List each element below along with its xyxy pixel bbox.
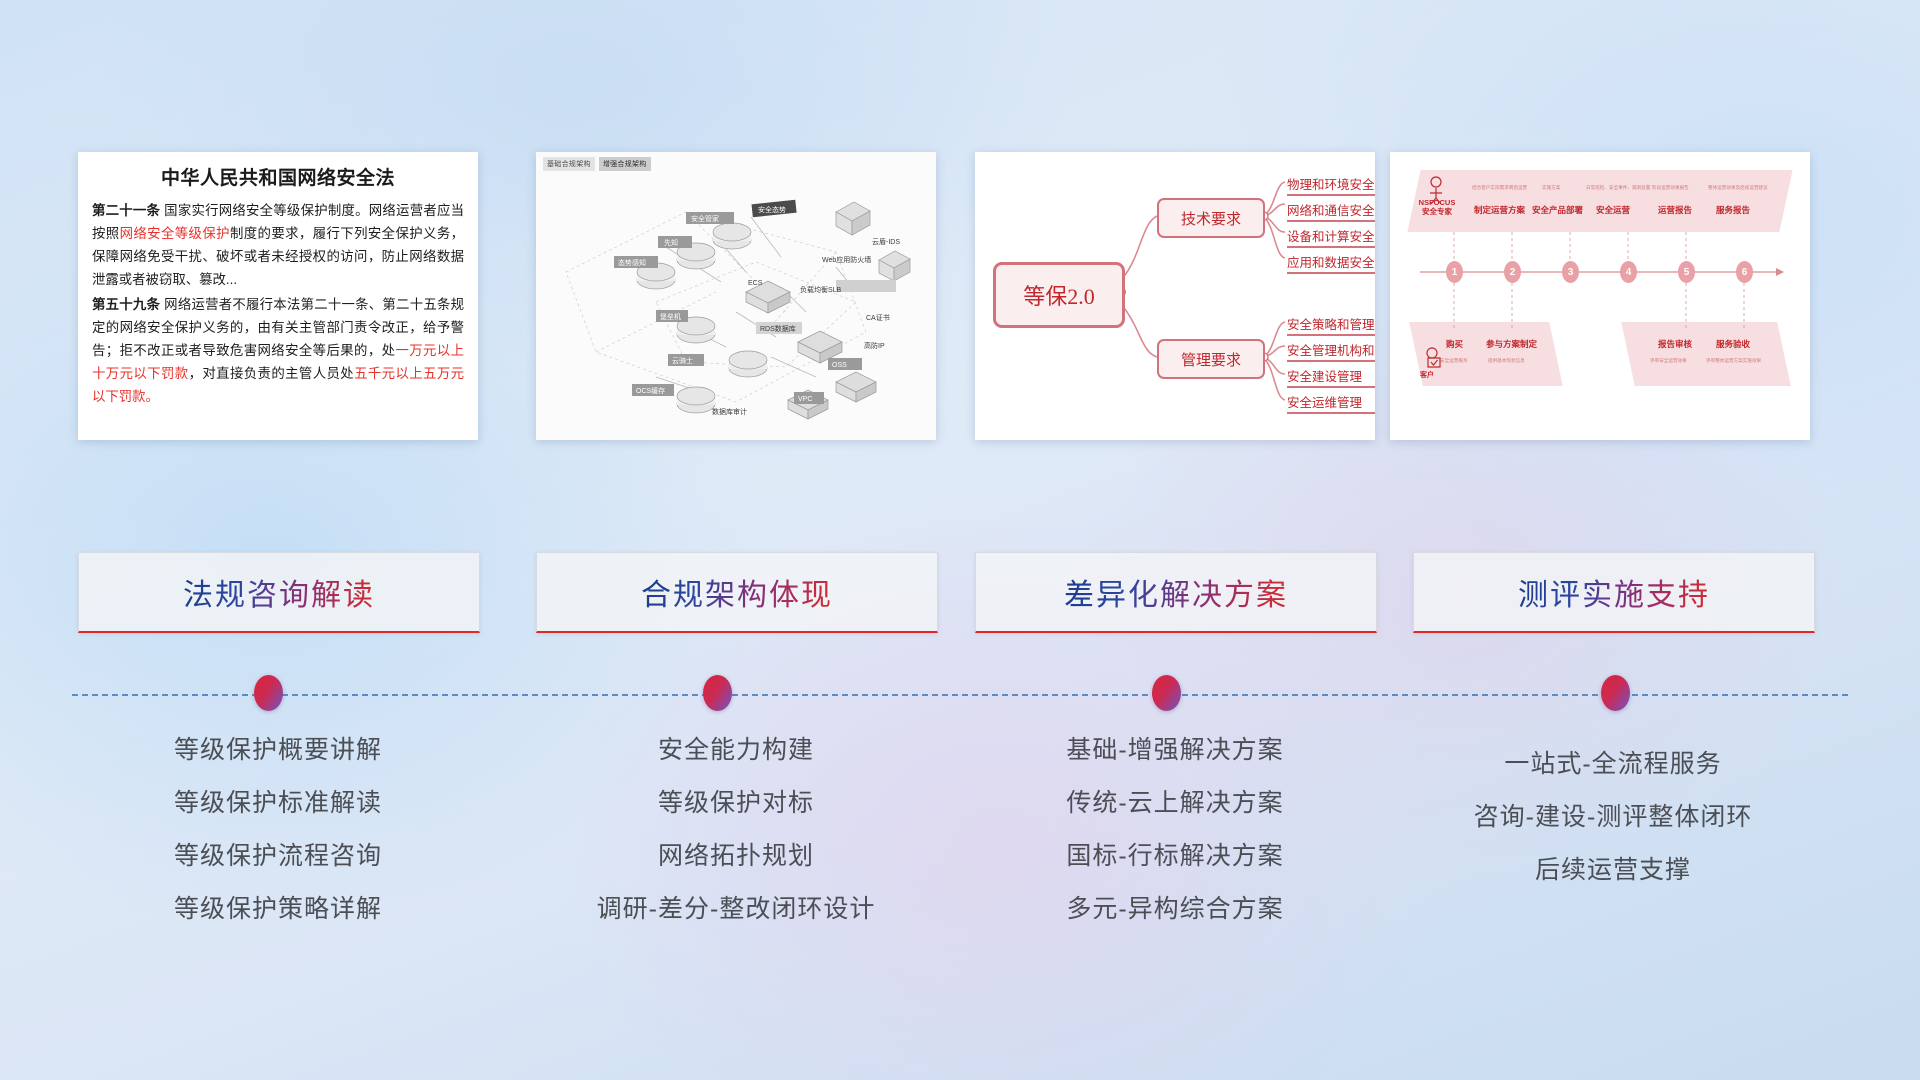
- bullet-column-2: 安全能力构建 等级保护对标 网络拓扑规划 调研-差分-整改闭环设计: [536, 738, 936, 950]
- list-item: 咨询-建设-测评整体闭环: [1413, 805, 1813, 830]
- law-title: 中华人民共和国网络安全法: [92, 163, 464, 190]
- list-item: 等级保护标准解读: [78, 791, 478, 816]
- bottom-step-sub-2: 提供基本现状信息: [1488, 358, 1525, 364]
- node-label-security-posture: 安全态势: [758, 205, 786, 214]
- bottom-step-title-1: 购买: [1446, 338, 1463, 350]
- card-mindmap: 等保2.0 技术要求 管理要求 物理和环境安全 网络和通信安全 设备和计算安全 …: [975, 152, 1375, 440]
- bottom-step-title-2: 参与方案制定: [1486, 338, 1537, 350]
- top-step-sub-5: 整体运营效果及后续运营建议: [1708, 185, 1768, 191]
- top-step-title-1: 制定运营方案: [1474, 204, 1525, 216]
- timeline-brand: NSFOCUS 安全专家: [1410, 198, 1464, 217]
- timeline-number-6: 6: [1736, 261, 1753, 283]
- timeline-marker-1[interactable]: [254, 675, 283, 711]
- law-article-59: 第五十九条 网络运营者不履行本法第二十一条、第二十五条规定的网络安全保护义务的，…: [92, 293, 464, 408]
- heading-title-2: 合规架构体现: [641, 570, 833, 614]
- mindmap-leaf-policy: 安全策略和管理制度: [1287, 314, 1375, 336]
- top-step-sub-2: 实施方案: [1542, 185, 1560, 191]
- article-21-label: 第二十一条: [92, 203, 160, 218]
- bottom-step-title-3: 报告审核: [1658, 338, 1692, 350]
- node-label-xianzhi: 先知: [664, 238, 678, 247]
- law-content: 中华人民共和国网络安全法 第二十一条 国家实行网络安全等级保护制度。网络运营者应…: [78, 152, 478, 440]
- node-label-housekeeper: 安全管家: [691, 214, 719, 223]
- mindmap-root-node[interactable]: 等保2.0: [993, 262, 1125, 328]
- timeline-number-5: 5: [1678, 261, 1695, 283]
- node-label-ecs: ECS: [748, 280, 763, 287]
- node-label-ca: CA证书: [866, 313, 890, 322]
- top-step-sub-3: 日常巡检、安全事件、漏洞处置: [1586, 185, 1650, 191]
- node-label-oss: OSS: [832, 362, 847, 369]
- bottom-step-sub-4: 评审整体运营方案实施效果: [1706, 358, 1761, 364]
- bottom-step-sub-1: 安全运营服务: [1440, 358, 1468, 364]
- node-label-slb: 负载均衡SLB: [800, 285, 842, 294]
- brand-name: NSFOCUS: [1410, 198, 1464, 207]
- mindmap-leaf-network: 网络和通信安全: [1287, 200, 1375, 222]
- mindmap-leaf-construction: 安全建设管理: [1287, 366, 1375, 388]
- bullet-column-3: 基础-增强解决方案 传统-云上解决方案 国标-行标解决方案 多元-异构综合方案: [975, 738, 1375, 950]
- law-article-21: 第二十一条 国家实行网络安全等级保护制度。网络运营者应当按照网络安全等级保护制度…: [92, 199, 464, 291]
- mindmap-leaf-application: 应用和数据安全: [1287, 252, 1375, 274]
- node-label-ids: 云盾-IDS: [872, 238, 900, 246]
- bottom-step-sub-3: 评审安全运营效果: [1650, 358, 1687, 364]
- brand-subtitle: 安全专家: [1410, 207, 1464, 216]
- timeline-number-2: 2: [1504, 261, 1521, 283]
- article-21-highlight: 网络安全等级保护: [120, 226, 230, 241]
- timeline-canvas: NSFOCUS 安全专家 结合客户实际需求明后运营 制定运营方案 实施方案 安全…: [1390, 152, 1810, 440]
- top-step-title-4: 运营报告: [1658, 204, 1692, 216]
- heading-title-3: 差异化解决方案: [1064, 570, 1288, 614]
- card-law-text: 中华人民共和国网络安全法 第二十一条 国家实行网络安全等级保护制度。网络运营者应…: [78, 152, 478, 440]
- card-service-timeline: NSFOCUS 安全专家 结合客户实际需求明后运营 制定运营方案 实施方案 安全…: [1390, 152, 1810, 440]
- top-step-sub-4: 阶段运营效果报告: [1652, 185, 1689, 191]
- timeline-number-1: 1: [1446, 261, 1463, 283]
- heading-box-differentiated-solution[interactable]: 差异化解决方案: [975, 552, 1377, 633]
- list-item: 安全能力构建: [536, 738, 936, 763]
- timeline-marker-2[interactable]: [703, 675, 732, 711]
- list-item: 后续运营支撑: [1413, 858, 1813, 883]
- list-item: 调研-差分-整改闭环设计: [536, 897, 936, 922]
- heading-title-1: 法规咨询解读: [183, 570, 375, 614]
- list-item: 传统-云上解决方案: [975, 791, 1375, 816]
- top-step-sub-1: 结合客户实际需求明后运营: [1472, 185, 1527, 191]
- node-label-cloudknight: 云骑士: [672, 356, 693, 365]
- node-label-vpc: VPC: [798, 396, 812, 403]
- node-label-antiddos: 高防IP: [864, 341, 885, 350]
- list-item: 基础-增强解决方案: [975, 738, 1375, 763]
- list-item: 一站式-全流程服务: [1413, 752, 1813, 777]
- list-item: 等级保护对标: [536, 791, 936, 816]
- node-label-waf: Web应用防火墙: [822, 255, 871, 264]
- mindmap-branch-management[interactable]: 管理要求: [1157, 339, 1265, 379]
- timeline-axis-svg: [1390, 152, 1810, 440]
- node-label-rds: RDS数据库: [760, 324, 796, 333]
- timeline-number-4: 4: [1620, 261, 1637, 283]
- architecture-canvas: 基础合规架构 增强合规架构: [536, 152, 936, 440]
- list-item: 多元-异构综合方案: [975, 897, 1375, 922]
- bullet-column-4: 一站式-全流程服务 咨询-建设-测评整体闭环 后续运营支撑: [1413, 752, 1813, 911]
- architecture-svg: 态势感知 先知 安全管家 堡垒机 云骑士 OCS缓存 安全态势 VPC OSS …: [536, 152, 936, 440]
- timeline-marker-4[interactable]: [1601, 675, 1630, 711]
- article-59-label: 第五十九条: [92, 297, 160, 312]
- heading-box-regulation-consulting[interactable]: 法规咨询解读: [78, 552, 480, 633]
- node-label-situational: 态势感知: [618, 258, 646, 267]
- slide-canvas: 中华人民共和国网络安全法 第二十一条 国家实行网络安全等级保护制度。网络运营者应…: [0, 0, 1920, 1080]
- list-item: 等级保护流程咨询: [78, 844, 478, 869]
- heading-box-assessment-support[interactable]: 测评实施支持: [1413, 552, 1815, 633]
- mindmap-leaf-physical: 物理和环境安全: [1287, 174, 1375, 196]
- top-step-title-3: 安全运营: [1596, 204, 1630, 216]
- mindmap-branch-technical[interactable]: 技术要求: [1157, 198, 1265, 238]
- mindmap-leaf-device: 设备和计算安全: [1287, 226, 1375, 248]
- bullet-column-1: 等级保护概要讲解 等级保护标准解读 等级保护流程咨询 等级保护策略详解: [78, 738, 478, 950]
- top-step-title-5: 服务报告: [1716, 204, 1750, 216]
- timeline-dashed-axis: [72, 694, 1848, 696]
- list-item: 国标-行标解决方案: [975, 844, 1375, 869]
- list-item: 等级保护策略详解: [78, 897, 478, 922]
- mindmap-leaf-org: 安全管理机构和人员: [1287, 340, 1375, 362]
- bottom-step-title-4: 服务验收: [1716, 338, 1750, 350]
- article-59-mid: ，对直接负责的主管人员处: [189, 366, 355, 381]
- node-label-bastion: 堡垒机: [660, 312, 681, 321]
- mindmap-canvas: 等保2.0 技术要求 管理要求 物理和环境安全 网络和通信安全 设备和计算安全 …: [975, 152, 1375, 440]
- card-architecture-diagram: 基础合规架构 增强合规架构: [536, 152, 936, 440]
- timeline-number-3: 3: [1562, 261, 1579, 283]
- list-item: 等级保护概要讲解: [78, 738, 478, 763]
- node-label-ocs: OCS缓存: [636, 386, 665, 395]
- node-label-db-audit: 数据库审计: [712, 407, 747, 416]
- mindmap-leaf-operations: 安全运维管理: [1287, 392, 1375, 414]
- list-item: 网络拓扑规划: [536, 844, 936, 869]
- timeline-customer-label: 客户: [1420, 370, 1434, 380]
- timeline-marker-3[interactable]: [1152, 675, 1181, 711]
- top-step-title-2: 安全产品部署: [1532, 204, 1583, 216]
- heading-title-4: 测评实施支持: [1518, 570, 1710, 614]
- heading-box-compliance-architecture[interactable]: 合规架构体现: [536, 552, 938, 633]
